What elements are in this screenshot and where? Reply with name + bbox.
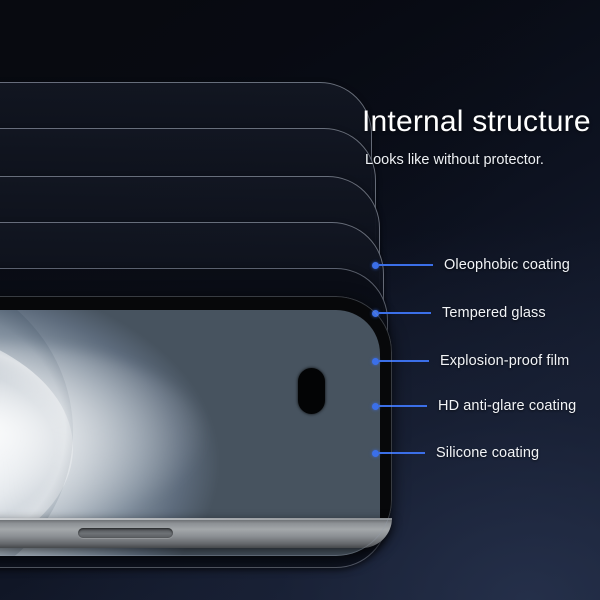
callout-layer5[interactable]: Silicone coating [372, 445, 539, 461]
callout-leader-line [379, 452, 425, 453]
callout-leader-line [379, 360, 429, 361]
callout-label: Oleophobic coating [444, 257, 570, 273]
phone-metal-frame [0, 518, 392, 548]
callout-layer2[interactable]: Tempered glass [372, 305, 546, 321]
callout-layer1[interactable]: Oleophobic coating [372, 257, 570, 273]
callout-label: Tempered glass [442, 305, 546, 321]
callout-leader-line [379, 264, 433, 265]
callout-dot-icon [372, 310, 379, 317]
callout-layer3[interactable]: Explosion-proof film [372, 353, 569, 369]
dynamic-island [298, 368, 325, 414]
callout-dot-icon [372, 358, 379, 365]
callout-label: Explosion-proof film [440, 353, 569, 369]
layer-stack [0, 0, 600, 600]
callout-layer4[interactable]: HD anti-glare coating [372, 398, 576, 414]
phone-device [0, 296, 392, 556]
callout-label: HD anti-glare coating [438, 398, 576, 414]
callout-dot-icon [372, 450, 379, 457]
callout-dot-icon [372, 262, 379, 269]
callout-label: Silicone coating [436, 445, 539, 461]
callout-leader-line [379, 312, 431, 313]
product-illustration: Internal structure Looks like without pr… [0, 0, 600, 600]
page-title: Internal structure [362, 105, 591, 139]
callout-leader-line [379, 405, 427, 406]
callout-dot-icon [372, 403, 379, 410]
speaker-grille [78, 528, 173, 538]
page-subtitle: Looks like without protector. [365, 152, 544, 168]
